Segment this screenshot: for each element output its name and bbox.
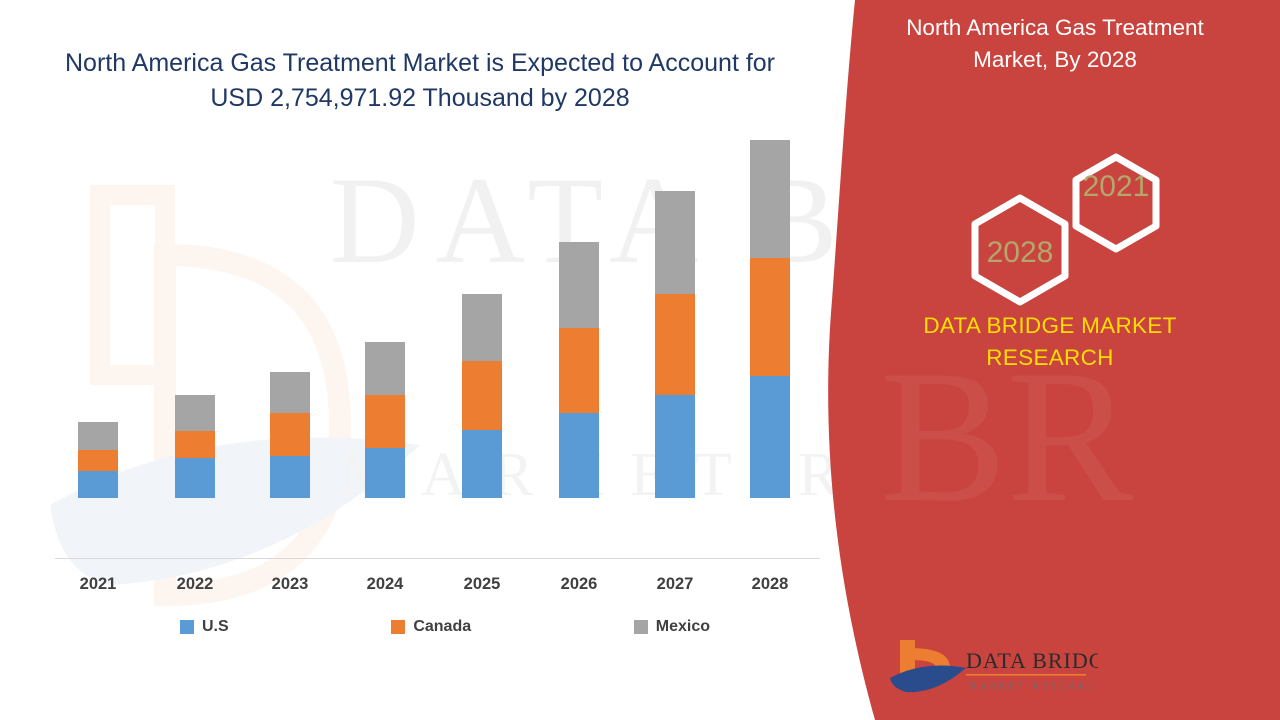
bar-2027	[655, 191, 695, 498]
bar-segment-us-2026	[559, 413, 599, 498]
legend-item-us[interactable]: U.S	[180, 618, 229, 636]
bar-2025	[462, 294, 502, 498]
panel-title: North America Gas Treatment Market, By 2…	[870, 12, 1240, 76]
chart-baseline-axis	[55, 558, 820, 559]
bar-segment-us-2028	[750, 376, 790, 498]
legend-item-mexico[interactable]: Mexico	[634, 618, 710, 636]
bar-segment-canada-2021	[78, 450, 118, 471]
bar-segment-us-2021	[78, 471, 118, 498]
bar-2023	[270, 372, 310, 498]
bar-segment-us-2025	[462, 430, 502, 498]
brand-name: DATA BRIDGE MARKET RESEARCH	[860, 310, 1240, 374]
brand-panel: BR North America Gas Treatment Market, B…	[820, 0, 1280, 720]
legend-item-canada[interactable]: Canada	[391, 618, 471, 636]
x-axis-label-2022: 2022	[150, 575, 240, 594]
bar-segment-mexico-2024	[365, 342, 405, 395]
x-axis-label-2028: 2028	[725, 575, 815, 594]
x-axis-label-2021: 2021	[53, 575, 143, 594]
bar-segment-us-2022	[175, 458, 215, 498]
legend-swatch-icon	[634, 620, 648, 634]
bar-segment-canada-2028	[750, 258, 790, 376]
bar-segment-canada-2023	[270, 413, 310, 456]
x-axis-label-2027: 2027	[630, 575, 720, 594]
footer-logo-subtitle: MARKET RESEARCH	[968, 682, 1098, 692]
legend-label: Canada	[413, 618, 471, 636]
x-axis-label-2025: 2025	[437, 575, 527, 594]
legend-label: Mexico	[656, 618, 710, 636]
bar-segment-mexico-2028	[750, 140, 790, 258]
bar-2026	[559, 242, 599, 498]
bar-segment-mexico-2022	[175, 395, 215, 431]
bar-segment-us-2023	[270, 456, 310, 498]
dbmr-footer-logo: DATA BRIDGE MARKET RESEARCH	[888, 634, 1098, 704]
bar-2024	[365, 342, 405, 498]
bar-segment-canada-2026	[559, 328, 599, 413]
bar-segment-mexico-2027	[655, 191, 695, 294]
bar-segment-mexico-2026	[559, 242, 599, 328]
bar-segment-canada-2025	[462, 361, 502, 430]
bar-segment-canada-2027	[655, 294, 695, 395]
bar-segment-us-2024	[365, 448, 405, 498]
x-axis-label-2023: 2023	[245, 575, 335, 594]
bar-2021	[78, 422, 118, 498]
bar-segment-mexico-2025	[462, 294, 502, 361]
dbmr-logo-icon: DATA BRIDGE MARKET RESEARCH	[888, 634, 1098, 704]
bar-segment-us-2027	[655, 395, 695, 498]
bar-segment-canada-2024	[365, 395, 405, 448]
bar-segment-mexico-2021	[78, 422, 118, 450]
bar-2028	[750, 140, 790, 498]
legend-label: U.S	[202, 618, 229, 636]
chart-legend: U.SCanadaMexico	[180, 618, 710, 636]
bar-segment-canada-2022	[175, 431, 215, 458]
bar-segment-mexico-2023	[270, 372, 310, 413]
legend-swatch-icon	[180, 620, 194, 634]
x-axis-label-2024: 2024	[340, 575, 430, 594]
bar-2022	[175, 395, 215, 498]
infographic-canvas: DATA BRIDGE MARKET RESEARCH North Americ…	[0, 0, 1280, 720]
footer-logo-title: DATA BRIDGE	[966, 648, 1098, 673]
legend-swatch-icon	[391, 620, 405, 634]
x-axis-label-2026: 2026	[534, 575, 624, 594]
stacked-bar-chart: 20212022202320242025202620272028	[0, 0, 830, 660]
